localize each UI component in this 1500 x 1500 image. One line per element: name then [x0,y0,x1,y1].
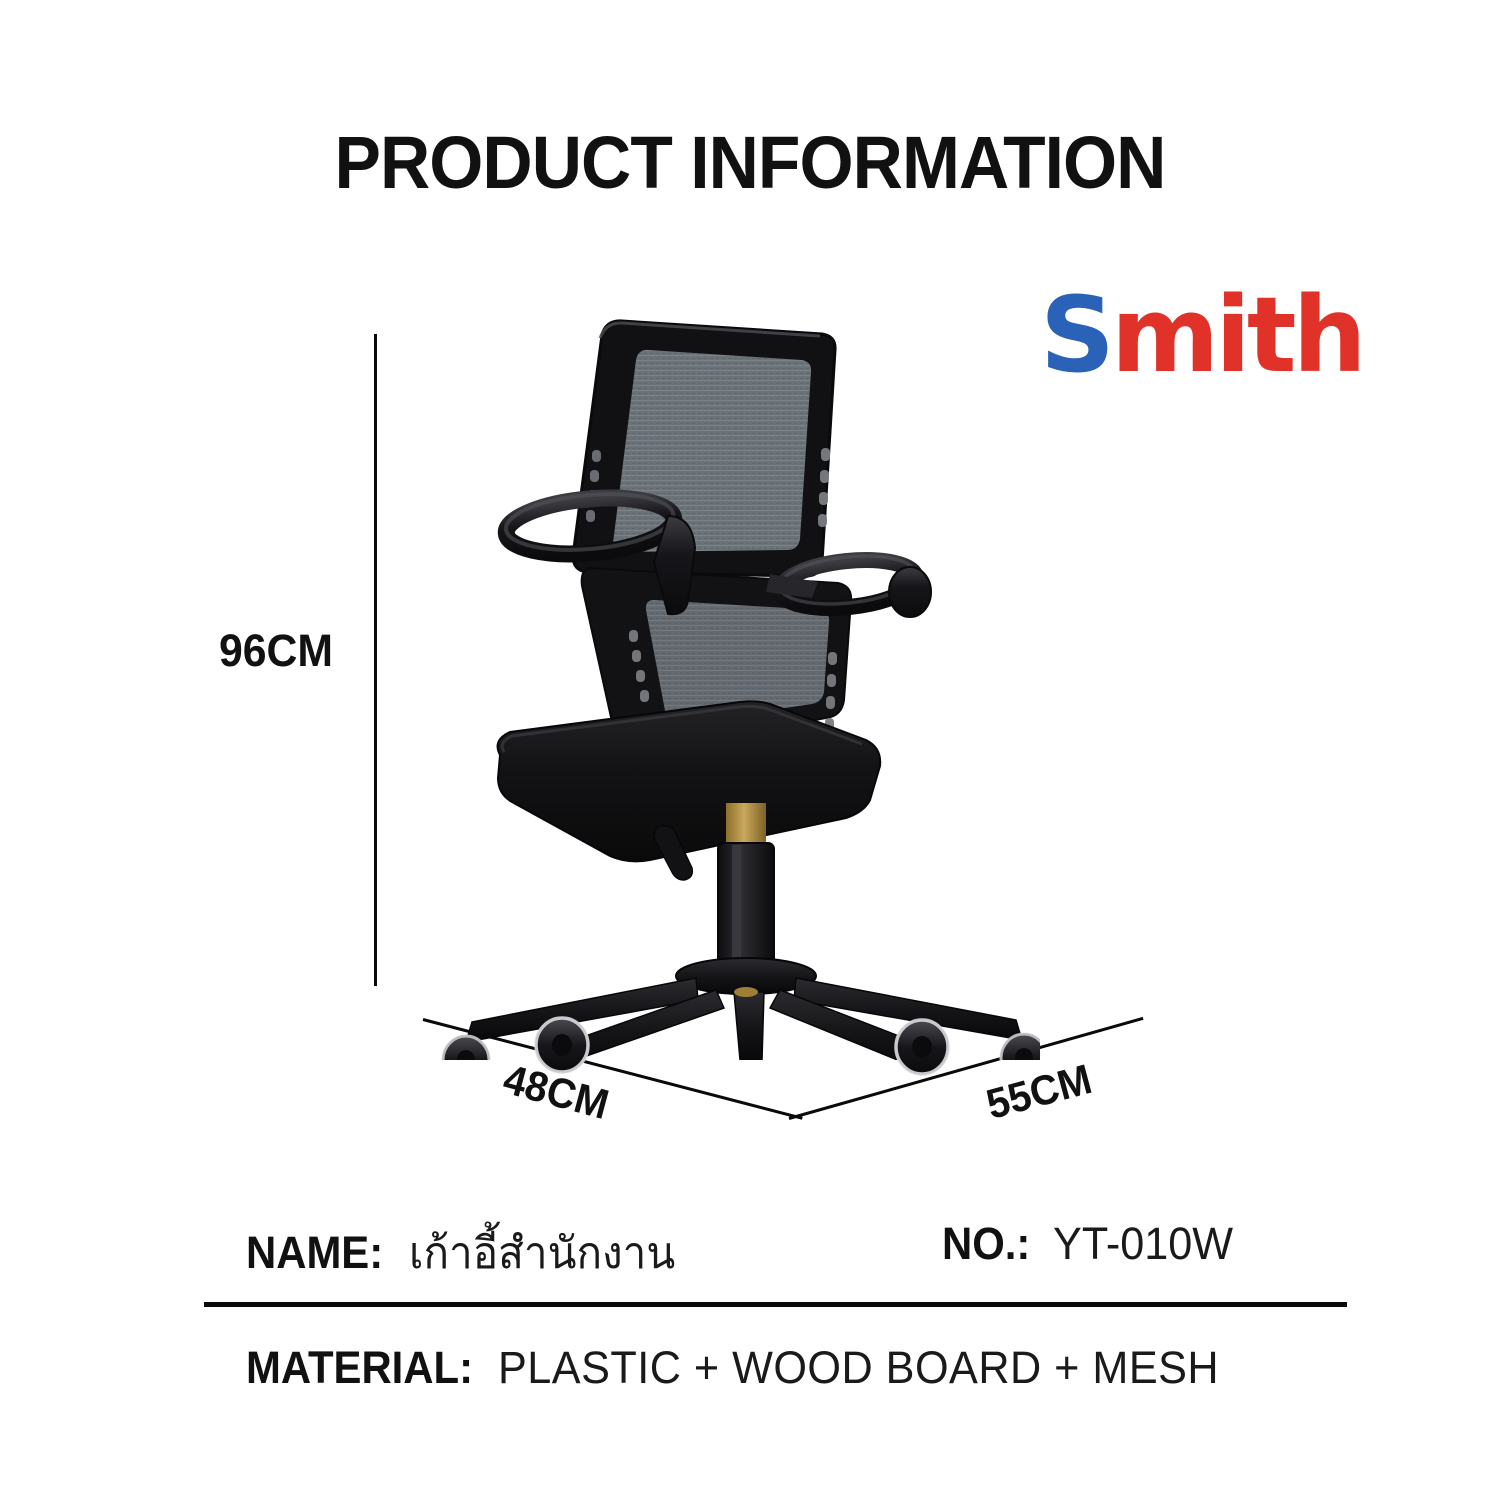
spec-separator-line [204,1302,1347,1307]
spec-no-key: NO.: [942,1218,1030,1270]
spec-no-group: NO.: YT-010W [942,1218,1241,1270]
product-information-page: PRODUCT INFORMATION Smith 96CM 48CM 55CM [0,0,1500,1500]
height-dimension-line [374,334,377,986]
spec-name-value: เก้าอี้สำนักงาน [409,1218,675,1288]
spec-row-material: MATERIAL: PLASTIC + WOOD BOARD + MESH [246,1342,1249,1394]
chair-gas-cylinder [718,803,774,973]
spec-name-group: NAME: เก้าอี้สำนักงาน [246,1218,687,1288]
brand-logo-initial: S [1040,274,1111,396]
chair-front-casters [440,1015,1040,1135]
product-image-office-chair [440,300,1040,1060]
brand-logo: Smith [1040,283,1363,387]
spec-material-value: PLASTIC + WOOD BOARD + MESH [498,1342,1219,1394]
spec-row-name: NAME: เก้าอี้สำนักงาน NO.: YT-010W [246,1218,1346,1280]
spec-no-value: YT-010W [1053,1218,1233,1270]
chair-backrest [573,321,835,576]
height-dimension-label: 96CM [219,625,333,677]
spec-material-key: MATERIAL: [246,1342,473,1394]
chair-seat [498,701,881,861]
spec-name-key: NAME: [246,1227,383,1279]
brand-logo-text: mith [1111,274,1363,396]
page-title: PRODUCT INFORMATION [45,120,1455,205]
